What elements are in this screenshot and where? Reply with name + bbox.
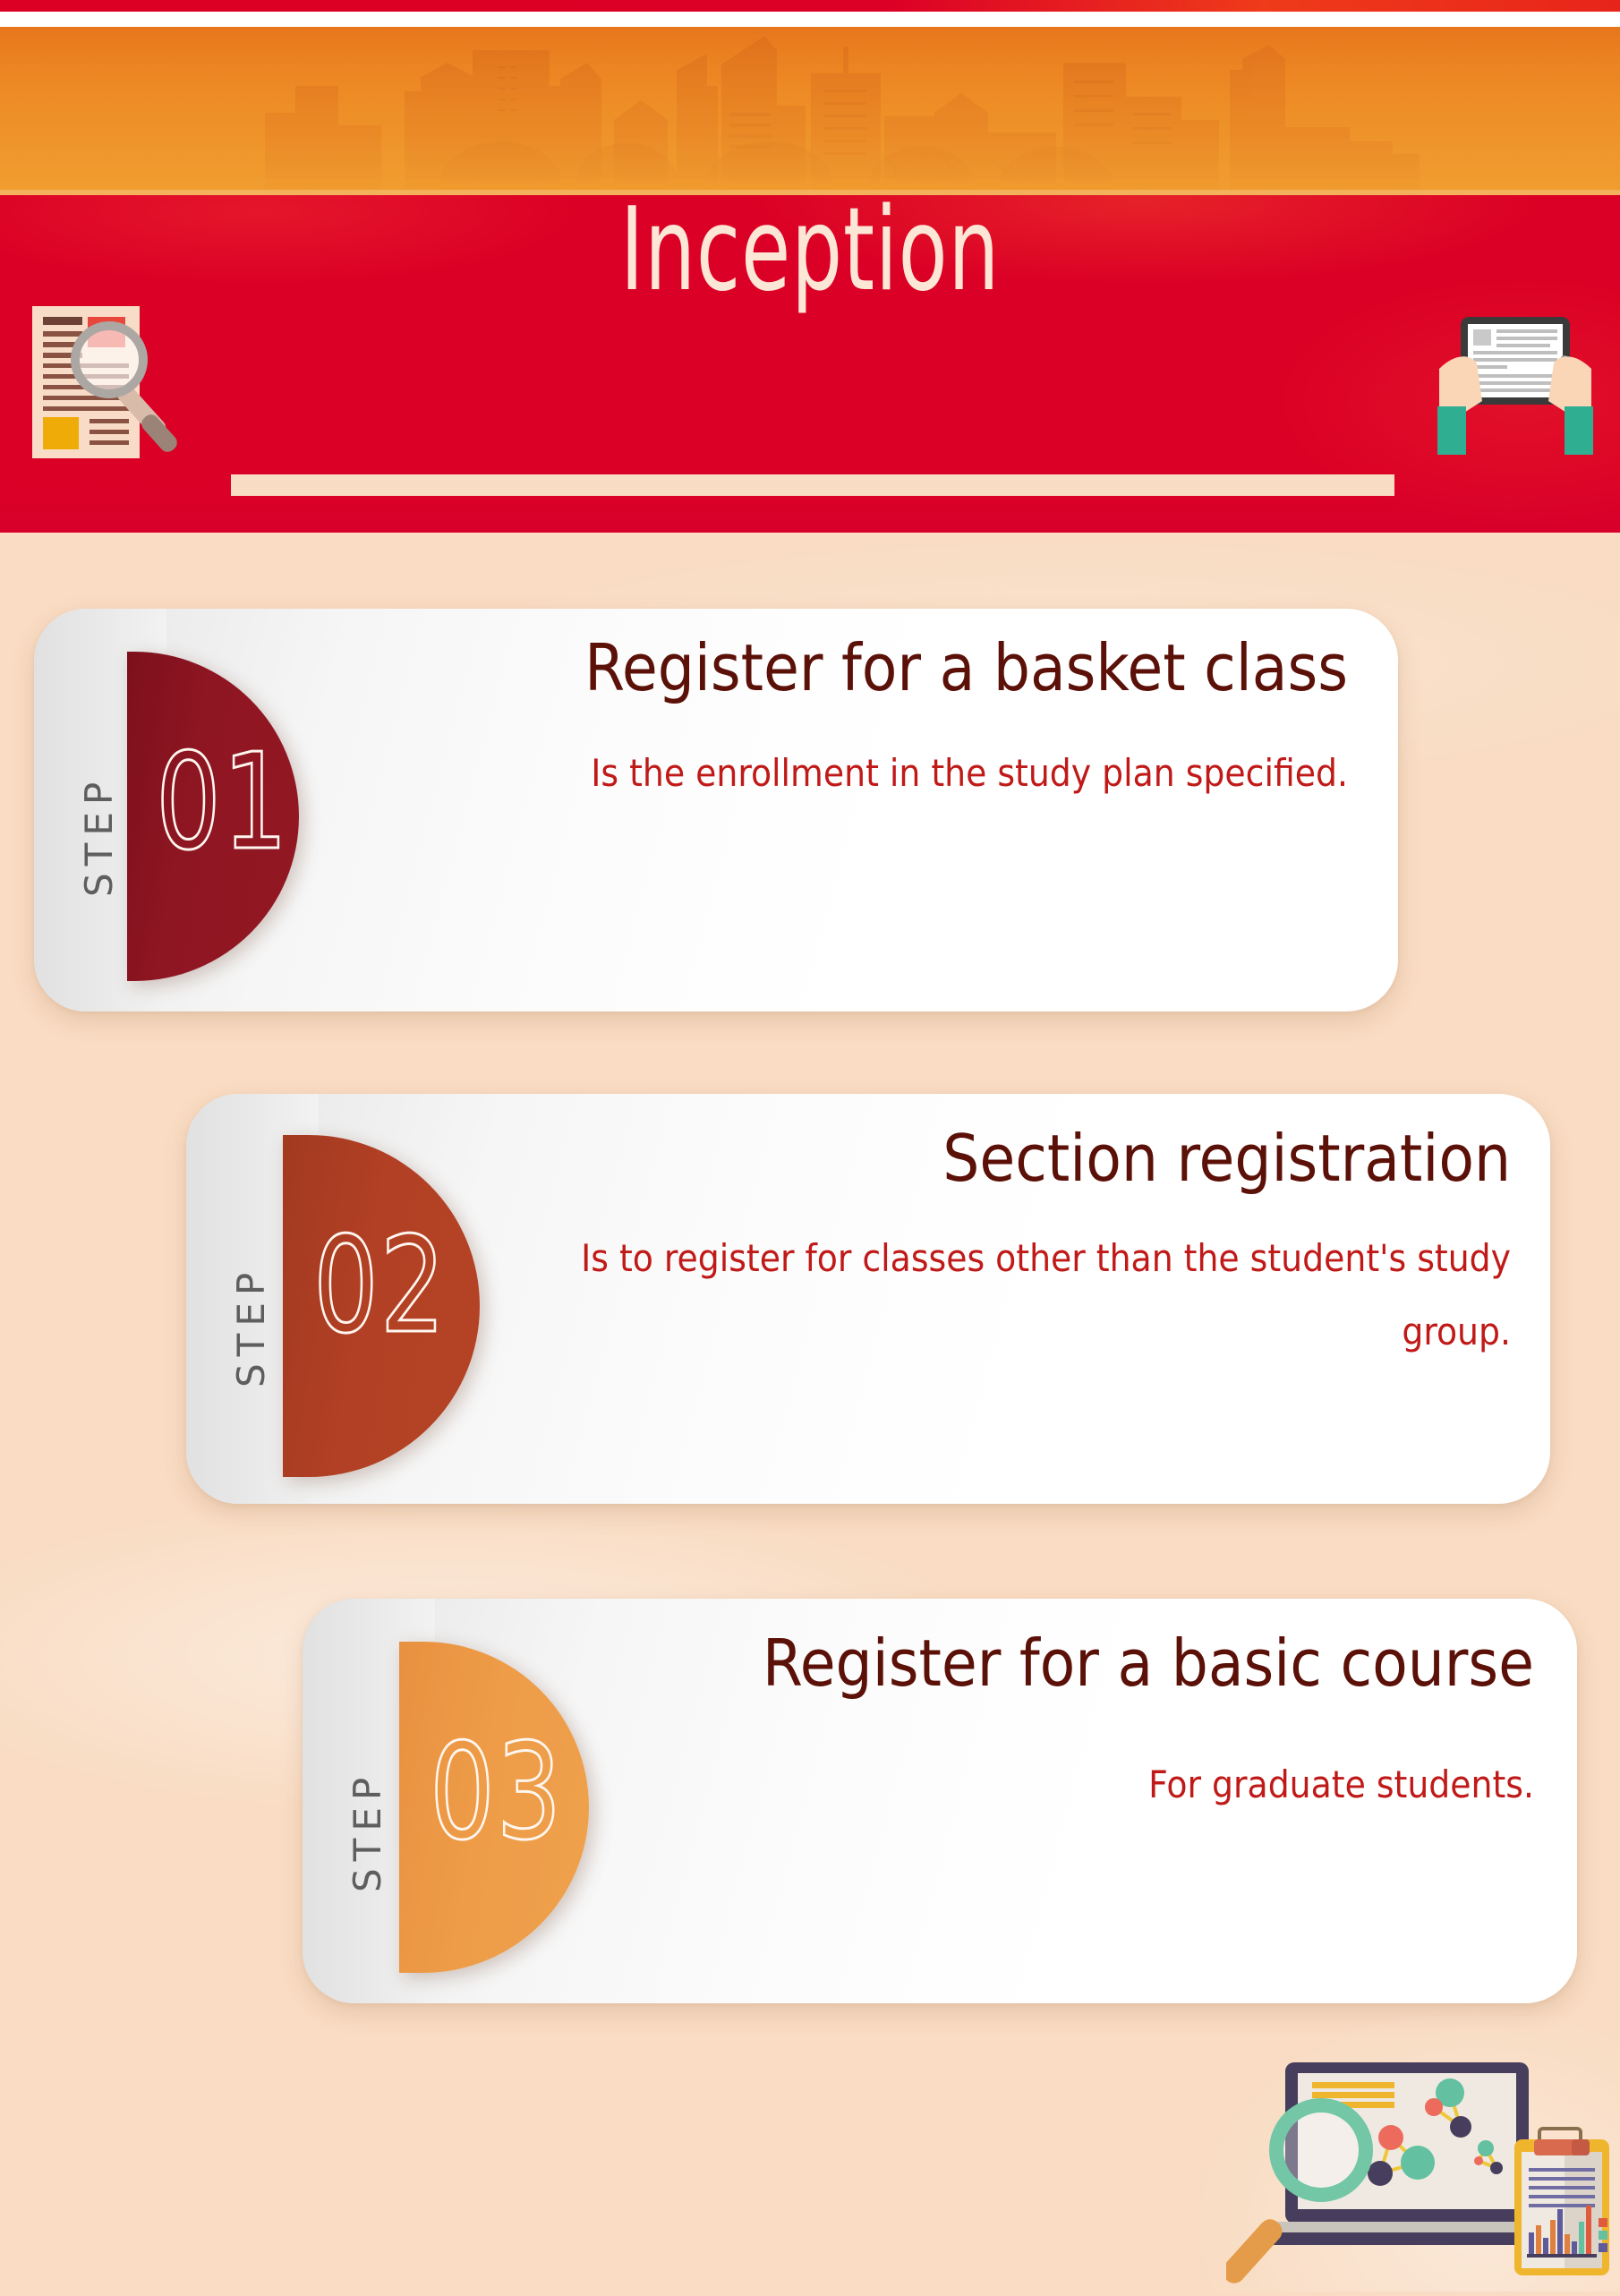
step-card-01[interactable]: STEP 01 Register for a basket class Is t…	[34, 609, 1398, 1011]
step-title-01: Register for a basket class	[303, 632, 1348, 704]
step-number-02: 02	[313, 1219, 447, 1352]
hands-holding-tablet-icon	[1430, 295, 1600, 465]
top-white-gap	[0, 12, 1620, 27]
step-number-03: 03	[430, 1726, 563, 1858]
title-underline-bar	[231, 474, 1394, 496]
city-skyline-silhouette	[0, 27, 1620, 195]
step-label-02: STEP	[229, 1217, 273, 1387]
step-description-01: Is the enrollment in the study plan spec…	[303, 737, 1348, 810]
step-card-02[interactable]: STEP 02 Section registration Is to regis…	[186, 1094, 1550, 1504]
hero-banner	[0, 27, 1620, 195]
step-label-01: STEP	[77, 727, 121, 897]
step-description-03: For graduate students.	[643, 1748, 1534, 1822]
step-card-03[interactable]: STEP 03 Register for a basic course For …	[303, 1599, 1577, 2003]
step-content-01: Register for a basket class Is the enrol…	[303, 632, 1348, 810]
step-title-02: Section registration	[508, 1122, 1511, 1195]
laptop-network-graph-magnifier-clipboard-icon	[1226, 2055, 1620, 2292]
step-description-02: Is to register for classes other than th…	[508, 1222, 1511, 1369]
step-number-01: 01	[156, 736, 289, 868]
page-title: Inception	[178, 193, 1442, 308]
step-content-02: Section registration Is to register for …	[508, 1122, 1511, 1368]
top-accent-strip	[0, 0, 1620, 12]
step-label-03: STEP	[345, 1722, 389, 1892]
step-content-03: Register for a basic course For graduate…	[643, 1627, 1534, 1822]
step-title-03: Register for a basic course	[643, 1627, 1534, 1700]
document-magnifier-icon	[20, 297, 212, 472]
